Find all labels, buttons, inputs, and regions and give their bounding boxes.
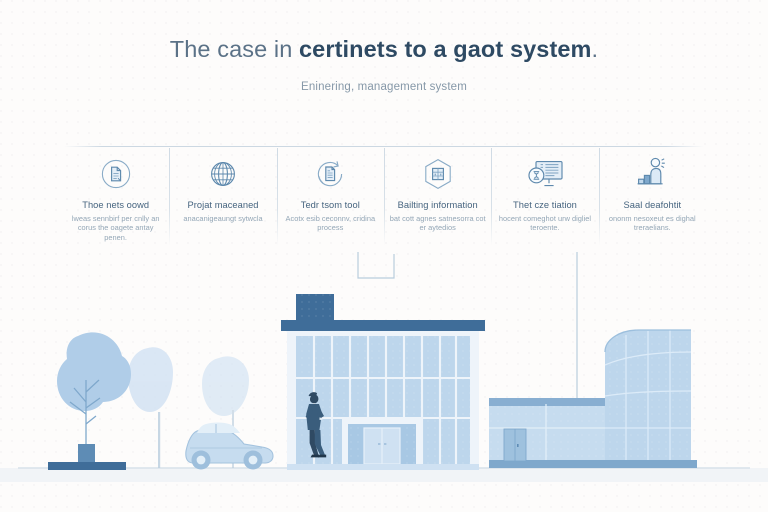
feature-body: hocent comeghot urw digliel teroente. xyxy=(495,214,595,233)
feature-column-2[interactable]: Projat maceaned anacanigeaungt sytwcla xyxy=(169,146,276,250)
feature-heading: Bailting information xyxy=(398,200,478,211)
feature-heading: Saal deafohtit xyxy=(624,200,682,211)
feature-body: Acotx esib ceconnv, cridina process xyxy=(280,214,380,233)
feature-column-4[interactable]: Bailting information bat cott agnes satn… xyxy=(384,146,491,250)
page-title-suffix: . xyxy=(592,36,599,62)
page-title-prefix: The case in xyxy=(170,36,299,62)
feature-body: bat cott agnes satnesorra cot er aytedio… xyxy=(388,214,488,233)
feature-heading: Tedr tsom tool xyxy=(301,200,360,211)
tower-base-band xyxy=(605,460,697,468)
roof-band xyxy=(281,320,485,331)
infographic-canvas: The case in certinets to a gaot system. … xyxy=(0,0,768,512)
globe-icon xyxy=(203,154,243,194)
feature-body: anacanigeaungt sytwcla xyxy=(183,214,262,223)
feature-heading: Thet cze tiation xyxy=(513,200,577,211)
feature-column-1[interactable]: Thoe nets oowd lweas sennbirf per cnlly … xyxy=(62,146,169,250)
feature-body: lweas sennbirf per cnlly an corus the oa… xyxy=(66,214,166,242)
page-title-emphasis: certinets to a gaot system xyxy=(299,36,592,62)
feature-strip: Thoe nets oowd lweas sennbirf per cnlly … xyxy=(62,146,706,250)
building-base xyxy=(287,464,479,470)
annex-door xyxy=(504,429,526,461)
monitor-search-icon xyxy=(525,154,565,194)
curved-glass-tower xyxy=(605,330,697,468)
tree-planter-base xyxy=(48,462,126,470)
ground-plane xyxy=(0,468,768,482)
office-building-street-scene xyxy=(0,252,768,512)
page-subtitle: Eninering, management system xyxy=(0,81,768,93)
feature-column-5[interactable]: Thet cze tiation hocent comeghot urw dig… xyxy=(491,146,598,250)
page-title: The case in certinets to a gaot system. xyxy=(0,34,768,64)
document-sync-icon xyxy=(310,154,350,194)
entrance-double-doors xyxy=(342,418,422,464)
feature-columns: Thoe nets oowd lweas sennbirf per cnlly … xyxy=(62,146,706,250)
document-page-icon xyxy=(96,154,136,194)
feature-heading: Projat maceaned xyxy=(187,200,258,211)
annex-building-body xyxy=(489,398,616,468)
tree-large xyxy=(48,332,131,470)
parked-car xyxy=(186,423,273,470)
bar-chart-person-icon xyxy=(632,154,672,194)
feature-body: ononm nesoxeut es dighal treraelians. xyxy=(602,214,702,233)
annex-roof-band xyxy=(489,398,616,406)
header: The case in certinets to a gaot system. … xyxy=(0,34,768,93)
feature-column-3[interactable]: Tedr tsom tool Acotx esib ceconnv, cridi… xyxy=(277,146,384,250)
tree-medium xyxy=(128,347,173,468)
feature-column-6[interactable]: Saal deafohtit ononm nesoxeut es dighal … xyxy=(599,146,706,250)
feature-heading: Thoe nets oowd xyxy=(82,200,149,211)
hexagon-grid-icon xyxy=(418,154,458,194)
tree-planter xyxy=(78,444,95,462)
